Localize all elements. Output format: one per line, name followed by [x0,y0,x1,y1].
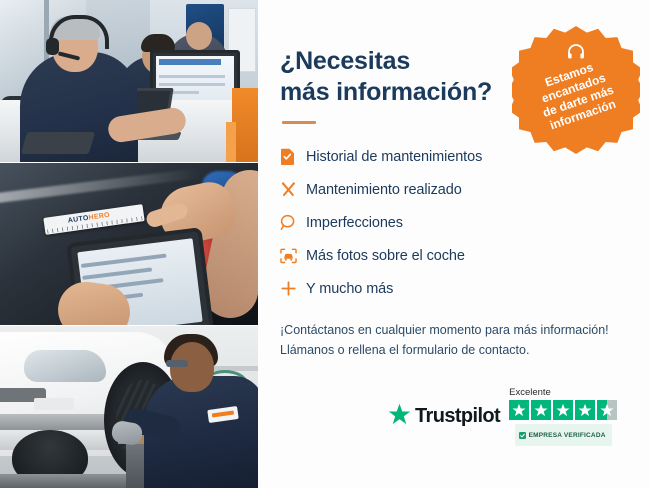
mechanic-glasses-decor [166,360,188,367]
photo-wheel-check [0,325,258,488]
car-photo-scan-icon [280,248,306,264]
plus-icon [280,280,306,297]
star-tile [509,400,529,420]
maintenance-history-icon [280,148,306,166]
information-banner: AUTOHERO [0,0,650,488]
trustpilot-star-icon [388,403,411,430]
photo-car-inspection: AUTOHERO [0,162,258,325]
car-lower-grille-decor [0,414,112,430]
tools-icon [280,181,306,198]
headline-line-1: ¿Necesitas [280,47,410,75]
contact-line-2: Llámanos o rellena el formulario de cont… [280,340,628,360]
star-tile [575,400,595,420]
page-title: ¿Necesitas más información? [280,46,510,107]
star-tile-half [597,400,617,420]
support-badge: Estamos encantados de darte más informac… [512,26,640,154]
headline-line-2: más información? [280,78,492,106]
verified-check-icon [519,426,526,444]
car-headlamp-decor [24,350,106,382]
feature-item-imperfections: Imperfecciones [280,206,628,239]
person-background-head-decor [186,22,212,50]
contact-copy: ¡Contáctanos en cualquier momento para m… [280,320,628,361]
orange-equipment-decor [226,122,236,162]
mechanic-head-decor [170,342,214,392]
trustpilot-wordmark: Trustpilot [415,405,500,428]
feature-label: Más fotos sobre el coche [306,248,465,264]
car-plate-decor [34,398,74,410]
title-underline [282,121,316,124]
feature-item-much-more: Y mucho más [280,272,628,305]
feature-label: Mantenimiento realizado [306,182,462,198]
contact-line-1: ¡Contáctanos en cualquier momento para m… [280,320,628,340]
photo-column: AUTOHERO [0,0,258,488]
feature-item-more-photos: Más fotos sobre el coche [280,239,628,272]
star-tile [531,400,551,420]
star-tile [553,400,573,420]
trustpilot-rating[interactable]: Trustpilot Excelente [388,387,617,446]
photo-call-center [0,0,258,162]
monitor-screen-row-decor [159,75,225,78]
feature-label: Historial de mantenimientos [306,149,482,165]
trustpilot-rating-label: Excelente [509,387,551,398]
headset-earcup-decor [46,38,59,55]
magnifier-icon [280,214,306,231]
feature-label: Imperfecciones [306,215,403,231]
verified-label: EMPRESA VERIFICADA [529,432,606,439]
desk-tablet-decor [21,132,95,154]
content-panel: ¿Necesitas más información? Estamos enca… [258,0,650,488]
monitor-screen-bar-decor [159,59,221,65]
trustpilot-score-block: Excelente [509,387,617,446]
feature-list: Historial de mantenimientos Mantenimient… [280,140,628,305]
feature-item-maintenance-done: Mantenimiento realizado [280,173,628,206]
monitor-screen-row-decor [159,83,225,86]
trustpilot-logo: Trustpilot [388,403,500,430]
car-lift-decor [0,474,128,488]
trustpilot-stars [509,400,617,420]
verified-company-badge: EMPRESA VERIFICADA [515,424,612,446]
feature-label: Y mucho más [306,281,393,297]
